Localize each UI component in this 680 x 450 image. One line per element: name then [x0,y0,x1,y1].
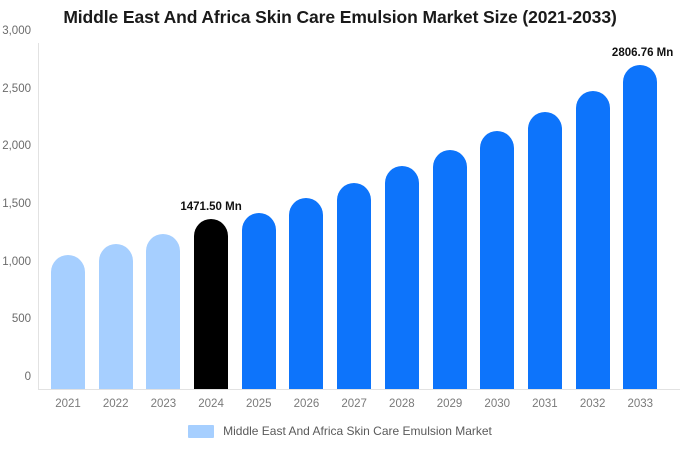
bar-group-2032[interactable]: 2032 [576,91,610,389]
y-axis-tick-label: 1,500 [2,198,31,210]
bar-group-2030[interactable]: 2030 [480,131,514,389]
plot-area: 05001,0001,5002,0002,5003,00020212022202… [38,43,680,389]
x-axis-tick-label-2030: 2030 [484,398,510,410]
x-axis-tick-label-2032: 2032 [580,398,606,410]
bar-2029[interactable] [433,150,467,389]
chart-legend: Middle East And Africa Skin Care Emulsio… [0,424,680,438]
x-axis-tick-label-2024: 2024 [198,398,224,410]
bar-2021[interactable] [51,255,85,389]
bar-group-2029[interactable]: 2029 [433,150,467,389]
bar-group-2022[interactable]: 2022 [99,244,133,389]
x-axis-tick-label-2025: 2025 [246,398,272,410]
bar-group-2033[interactable]: 2806.76 Mn2033 [623,65,657,389]
bar-2024[interactable] [194,219,228,389]
bar-group-2031[interactable]: 2031 [528,112,562,389]
bar-group-2028[interactable]: 2028 [385,166,419,389]
x-axis-tick-label-2027: 2027 [341,398,367,410]
x-axis-tick-label-2021: 2021 [55,398,81,410]
x-axis-tick-label-2033: 2033 [628,398,654,410]
y-axis-tick-label: 1,000 [2,256,31,268]
bar-2027[interactable] [337,183,371,389]
legend-item-label: Middle East And Africa Skin Care Emulsio… [223,424,492,438]
bar-value-label-2024: 1471.50 Mn [180,201,241,213]
x-axis-tick-label-2026: 2026 [294,398,320,410]
x-axis-tick-label-2028: 2028 [389,398,415,410]
bar-2023[interactable] [146,234,180,389]
y-axis-tick-label: 0 [25,371,31,383]
bar-2033[interactable] [623,65,657,389]
bar-2032[interactable] [576,91,610,389]
bar-group-2025[interactable]: 2025 [242,213,276,389]
bar-group-2024[interactable]: 1471.50 Mn2024 [194,219,228,389]
x-axis-tick-label-2022: 2022 [103,398,129,410]
chart-title: Middle East And Africa Skin Care Emulsio… [0,7,680,28]
x-axis-tick-label-2031: 2031 [532,398,558,410]
bar-group-2021[interactable]: 2021 [51,255,85,389]
bar-2030[interactable] [480,131,514,389]
bar-value-label-2033: 2806.76 Mn [612,47,673,59]
bar-group-2023[interactable]: 2023 [146,234,180,389]
y-axis-tick-label: 2,000 [2,140,31,152]
bar-chart: Middle East And Africa Skin Care Emulsio… [0,0,680,450]
bar-2028[interactable] [385,166,419,389]
x-axis-tick-label-2029: 2029 [437,398,463,410]
x-axis-line [38,389,680,390]
bar-group-2026[interactable]: 2026 [289,198,323,389]
bar-2025[interactable] [242,213,276,389]
legend-swatch-icon [188,425,214,438]
bar-2026[interactable] [289,198,323,389]
bar-2031[interactable] [528,112,562,389]
bar-2022[interactable] [99,244,133,389]
y-axis-tick-label: 2,500 [2,83,31,95]
x-axis-tick-label-2023: 2023 [151,398,177,410]
y-axis-tick-label: 500 [12,313,31,325]
bar-group-2027[interactable]: 2027 [337,183,371,389]
legend-item[interactable]: Middle East And Africa Skin Care Emulsio… [188,424,492,438]
y-axis-tick-label: 3,000 [2,25,31,37]
